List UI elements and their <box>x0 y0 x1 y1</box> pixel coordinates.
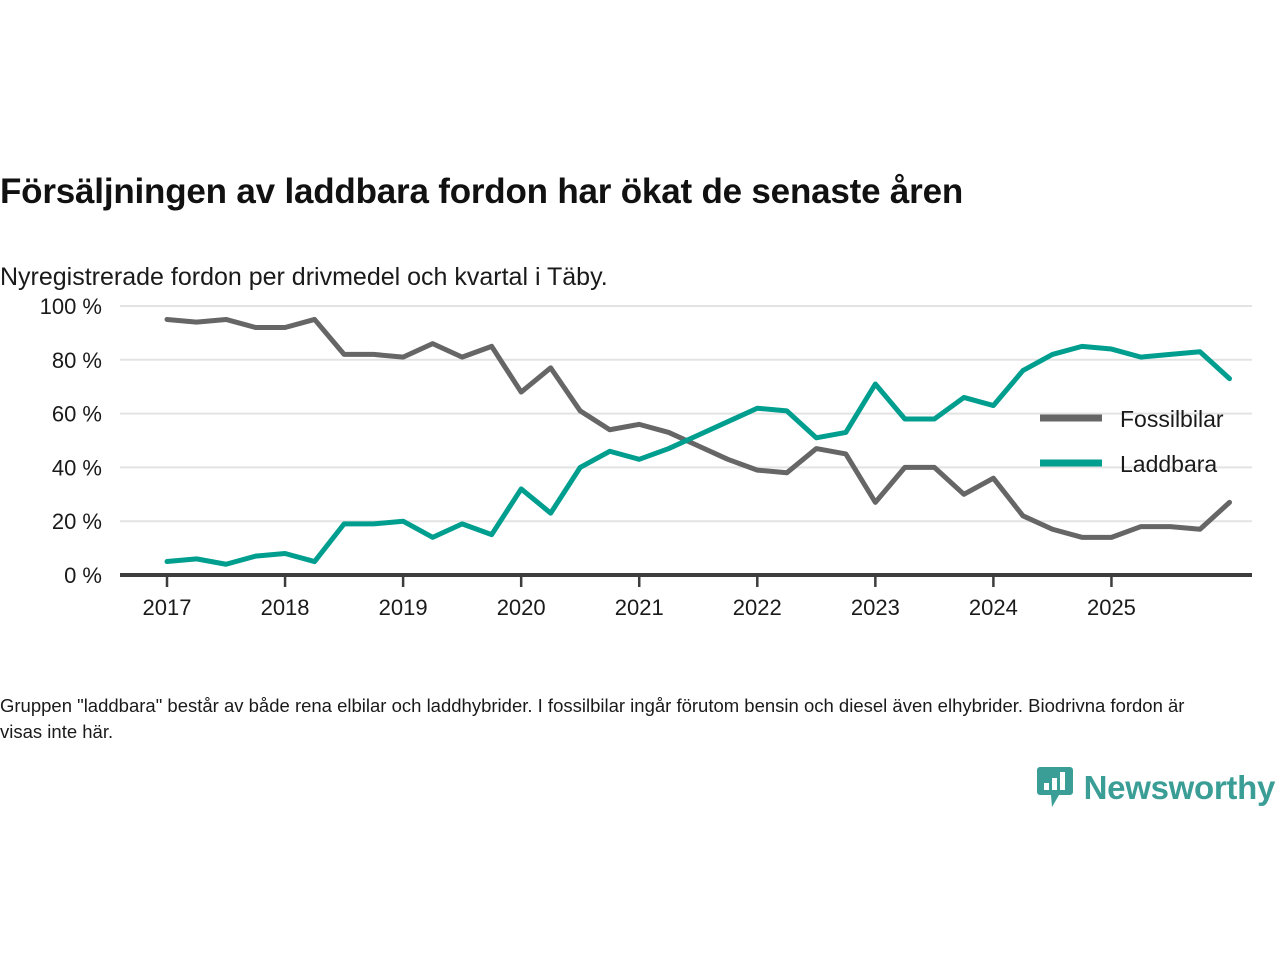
x-axis-tick-label: 2022 <box>733 595 782 620</box>
legend-label-fossilbilar: Fossilbilar <box>1120 406 1224 432</box>
chart-page: Försäljningen av laddbara fordon har öka… <box>0 0 1280 960</box>
chart-series-group <box>167 319 1230 564</box>
x-axis-tick-label: 2019 <box>379 595 428 620</box>
y-axis-tick-label: 80 % <box>52 348 102 373</box>
legend-label-laddbara: Laddbara <box>1120 451 1217 477</box>
x-axis-tick-label: 2021 <box>615 595 664 620</box>
x-axis-tick-label: 2017 <box>143 595 192 620</box>
y-axis-tick-label: 0 % <box>64 563 102 588</box>
bar-chart-speech-bubble-icon <box>1037 766 1075 810</box>
chart-footnote: Gruppen "laddbara" består av både rena e… <box>0 693 1215 745</box>
x-axis-tick-label: 2025 <box>1087 595 1136 620</box>
x-axis-tick-labels: 201720182019202020212022202320242025 <box>143 595 1136 620</box>
y-axis-tick-label: 60 % <box>52 402 102 427</box>
y-axis-tick-label: 100 % <box>40 294 102 319</box>
chart-legend: FossilbilarLaddbara <box>1040 406 1224 477</box>
y-axis-tick-label: 40 % <box>52 455 102 480</box>
y-axis-tick-label: 20 % <box>52 509 102 534</box>
y-axis-tick-labels: 0 %20 %40 %60 %80 %100 % <box>40 294 102 588</box>
page-title: Försäljningen av laddbara fordon har öka… <box>0 171 1240 213</box>
chart-gridlines <box>120 306 1252 521</box>
x-axis-tick-label: 2024 <box>969 595 1018 620</box>
newsworthy-wordmark: Newsworthy <box>1084 771 1275 805</box>
chart-container: 0 %20 %40 %60 %80 %100 % 201720182019202… <box>0 288 1280 628</box>
line-chart: 0 %20 %40 %60 %80 %100 % 201720182019202… <box>0 288 1280 628</box>
x-axis-tick-label: 2018 <box>261 595 310 620</box>
x-axis-tick-label: 2020 <box>497 595 546 620</box>
newsworthy-logo[interactable]: Newsworthy <box>1037 766 1275 810</box>
x-axis-tick-label: 2023 <box>851 595 900 620</box>
